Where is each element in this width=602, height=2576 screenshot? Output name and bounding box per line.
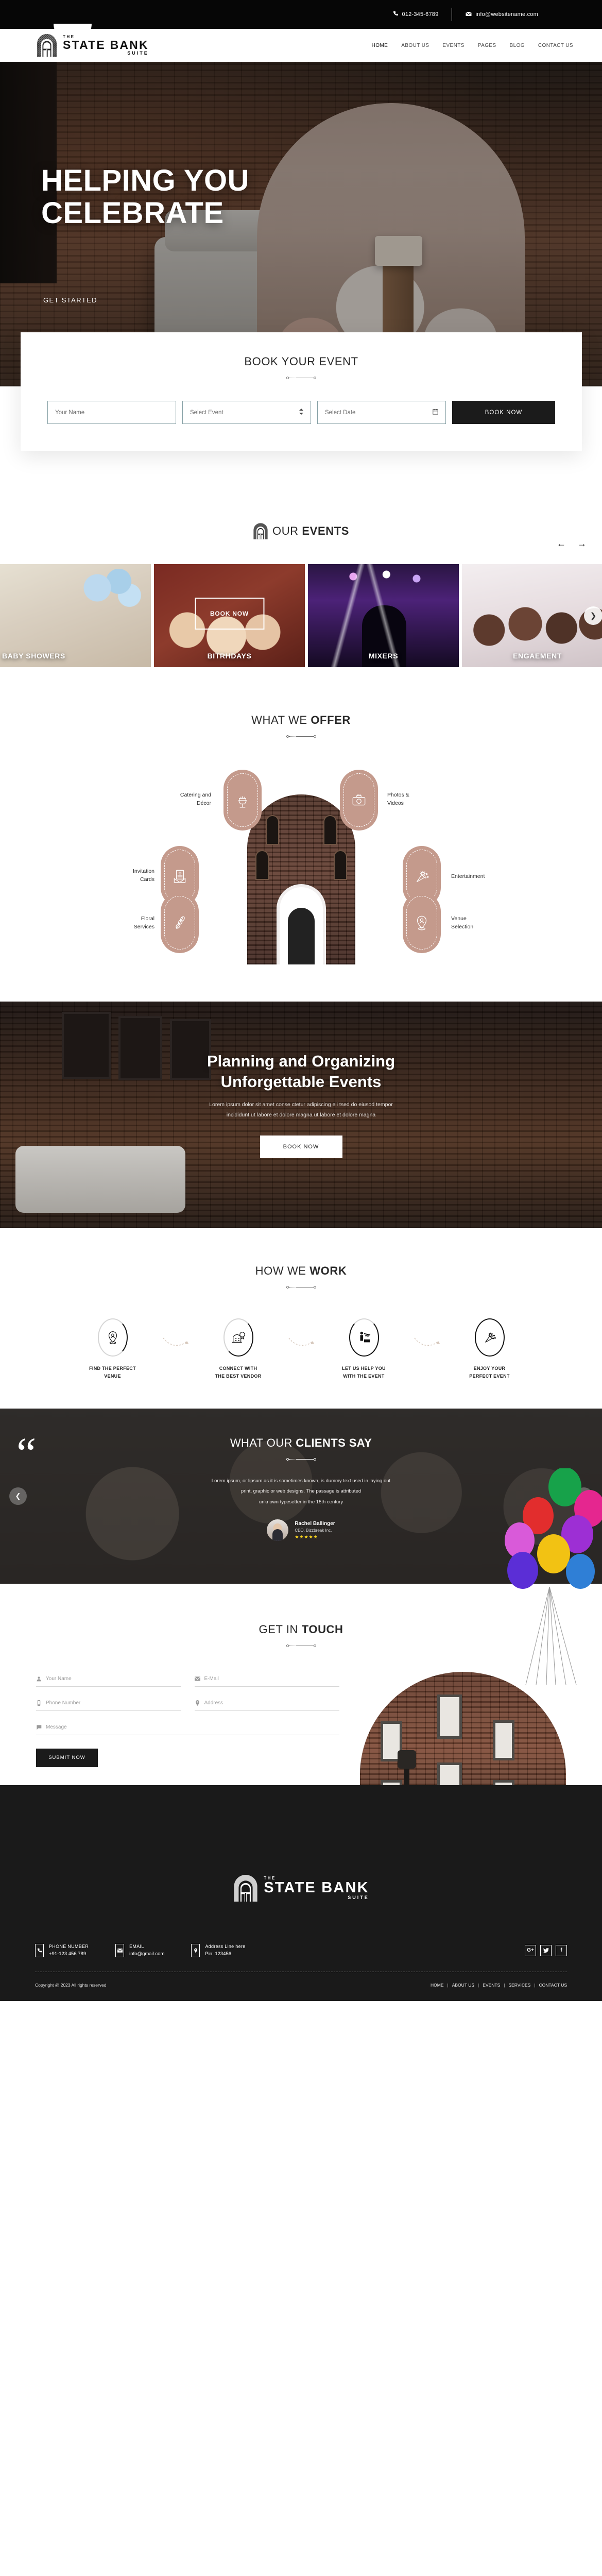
contact-message-field[interactable]: Message <box>36 1724 339 1735</box>
main-nav: HOME ABOUT US EVENTS PAGES BLOG CONTACT … <box>372 43 573 48</box>
work-step-4[interactable]: ENJOY YOUR PERFECT EVENT <box>451 1318 528 1381</box>
testimonial-quote-line2: print, graphic or web designs. The passa… <box>0 1486 602 1497</box>
nav-item-pages[interactable]: PAGES <box>478 43 496 48</box>
event-card-label: BABY SHOWERS <box>0 652 151 660</box>
step-arrow-icon <box>288 1336 314 1349</box>
testimonials-title-light: WHAT OUR <box>230 1436 296 1449</box>
footer-link-separator: | <box>534 1982 535 1988</box>
booking-title: BOOK YOUR EVENT <box>41 355 561 368</box>
work-step-2[interactable]: CONNECT WITH THE BEST VENDOR <box>200 1318 277 1381</box>
footer-copyright: Copyright @ 2023 All rights reserved <box>35 1982 107 1988</box>
what-we-offer-section: WHAT WE OFFER Catering and Décor <box>0 667 602 986</box>
map-pin-icon <box>195 1700 200 1706</box>
footer-links: HOME | ABOUT US | EVENTS | SERVICES | CO… <box>431 1982 567 1988</box>
planner-bunting-icon <box>356 1330 372 1345</box>
arrow-left-icon[interactable]: ← <box>557 538 566 549</box>
work-step-label: LET US HELP YOU WITH THE EVENT <box>325 1365 403 1381</box>
testimonials-section: “ ❮ ❯ WHAT OUR CLIENTS SAY Lorem ipsum, … <box>0 1409 602 1584</box>
topbar-divider <box>452 8 452 21</box>
contact-form: Your Name E-Mail Phone Number Address <box>36 1672 339 1767</box>
chevron-right-icon[interactable]: ❯ <box>584 606 602 625</box>
hero-headline-line1: HELPING YOU <box>41 165 602 197</box>
planning-headline-line1: Planning and Organizing <box>0 1051 602 1072</box>
testimonial-author: Rachel Ballinger CEO, Bizzbreak Inc. ★★★… <box>0 1519 602 1541</box>
floral-branch-icon <box>171 914 188 931</box>
testimonial-author-name: Rachel Ballinger <box>295 1521 335 1527</box>
contact-phone-placeholder: Phone Number <box>46 1700 80 1706</box>
topbar-email[interactable]: info@websitename.com <box>466 11 538 18</box>
name-input[interactable]: Your Name <box>47 401 176 424</box>
contact-address-field[interactable]: Address <box>195 1700 340 1711</box>
contact-name-field[interactable]: Your Name <box>36 1676 181 1687</box>
logo[interactable]: THE STATE BANK SUITE <box>36 34 149 57</box>
phone-icon <box>35 1944 44 1957</box>
footer-address-value: Pin: 123456 <box>205 1951 245 1957</box>
map-pin-icon <box>191 1944 200 1957</box>
contact-title-bold: TOUCH <box>302 1623 343 1636</box>
event-card-label: BITRHDAYS <box>154 652 305 660</box>
offer-title-light: WHAT WE <box>251 714 311 726</box>
offer-pill-floral[interactable] <box>161 892 199 953</box>
venue-door <box>280 887 323 964</box>
event-card-birthdays[interactable]: BOOK NOW BITRHDAYS <box>154 564 305 667</box>
planning-content: Planning and Organizing Unforgettable Ev… <box>0 1002 602 1158</box>
title-separator <box>0 1286 602 1289</box>
work-step-ring <box>223 1318 253 1357</box>
footer-social-links: G+ f <box>525 1945 567 1956</box>
offer-diagram: Catering and Décor Photos & Videos Invit… <box>0 770 602 965</box>
footer-link-separator: | <box>478 1982 479 1988</box>
topbar-phone-text: 012-345-6789 <box>402 11 439 18</box>
calendar-icon <box>433 409 438 416</box>
title-separator <box>41 377 561 379</box>
footer-bottom: Copyright @ 2023 All rights reserved HOM… <box>0 1972 602 2001</box>
site-footer: THE STATE BANK SUITE PHONE NUMBER +91-12… <box>0 1785 602 2001</box>
hero-content: HELPING YOU CELEBRATE GET STARTED <box>0 62 602 309</box>
bank-building-icon <box>233 1875 259 1902</box>
events-carousel-arrows: ← → <box>557 538 587 549</box>
offer-pill-catering[interactable] <box>223 770 262 831</box>
name-input-placeholder: Your Name <box>55 410 84 416</box>
work-step-1[interactable]: FIND THE PERFECT VENUE <box>74 1318 151 1381</box>
hero-headline-line2: CELEBRATE <box>41 197 602 230</box>
work-step-ring <box>349 1318 379 1357</box>
work-step-3[interactable]: LET US HELP YOU WITH THE EVENT <box>325 1318 403 1381</box>
footer-link-contact-us[interactable]: CONTACT US <box>539 1982 567 1988</box>
avatar <box>267 1519 288 1541</box>
testimonial-quote-line3: unknown typesetter in the 15th century <box>0 1497 602 1508</box>
site-header: THE STATE BANK SUITE HOME ABOUT US EVENT… <box>0 29 602 62</box>
step-arrow-icon <box>163 1336 188 1349</box>
testimonial-author-role: CEO, Bizzbreak Inc. <box>295 1528 335 1533</box>
contact-message-placeholder: Message <box>46 1724 67 1730</box>
footer-address[interactable]: Address Line here Pin: 123456 <box>191 1944 245 1957</box>
arrow-right-icon[interactable]: → <box>577 538 587 549</box>
title-separator <box>0 1645 602 1647</box>
work-title: HOW WE WORK <box>0 1264 602 1278</box>
testimonials-content: WHAT OUR CLIENTS SAY Lorem ipsum, or lip… <box>0 1409 602 1541</box>
footer-phone[interactable]: PHONE NUMBER +91-123 456 789 <box>35 1944 89 1957</box>
bank-building-icon <box>36 34 58 57</box>
event-select-value: Select Event <box>190 410 223 416</box>
get-started-button[interactable]: GET STARTED <box>41 291 99 309</box>
our-events-title-light: OUR <box>272 524 302 537</box>
work-step-label: ENJOY YOUR PERFECT EVENT <box>451 1365 528 1381</box>
footer-logo-name: STATE BANK <box>264 1880 369 1895</box>
work-step-ring <box>475 1318 505 1357</box>
book-now-button[interactable]: BOOK NOW <box>452 401 555 424</box>
work-step-ring <box>98 1318 128 1357</box>
updown-caret-icon <box>299 409 303 416</box>
footer-link-services[interactable]: SERVICES <box>508 1982 530 1988</box>
offer-label-invitation: Invitation Cards <box>72 868 154 884</box>
cake-table-icon <box>234 791 251 809</box>
contact-email-placeholder: E-Mail <box>204 1676 219 1682</box>
planning-banner-section: Planning and Organizing Unforgettable Ev… <box>0 1002 602 1228</box>
offer-label-floral: Floral Services <box>72 915 154 931</box>
contact-title-light: GET IN <box>259 1623 301 1636</box>
date-input-placeholder: Select Date <box>325 410 355 416</box>
offer-label-venue: Venue Selection <box>451 915 549 931</box>
camera-icon <box>350 791 368 809</box>
event-card-engagement[interactable]: ENGAEMENT ❯ <box>462 564 602 667</box>
booking-form: Your Name Select Event Select Date BOOK … <box>41 401 561 424</box>
rating-stars: ★★★★★ <box>295 1534 335 1540</box>
phone-icon <box>36 1700 42 1706</box>
page-root: 012-345-6789 info@websitename.com <box>0 0 602 2001</box>
event-card-mixers[interactable]: MIXERS <box>308 564 459 667</box>
google-plus-icon[interactable]: G+ <box>525 1945 536 1956</box>
our-events-section: OUR EVENTS ← → BABY SHOWERS BOOK NOW BIT… <box>0 451 602 667</box>
contact-address-placeholder: Address <box>204 1700 223 1706</box>
work-title-bold: WORK <box>309 1264 347 1277</box>
offer-label-catering: Catering and Décor <box>124 791 211 808</box>
map-pin-person-icon <box>105 1330 121 1345</box>
nav-item-contact-us[interactable]: CONTACT US <box>538 43 573 48</box>
footer-phone-label: PHONE NUMBER <box>49 1944 89 1949</box>
booking-section: BOOK YOUR EVENT Your Name Select Event S… <box>0 332 602 451</box>
title-separator <box>0 1458 602 1461</box>
event-select[interactable]: Select Event <box>182 401 311 424</box>
map-pin-person-icon <box>413 914 431 931</box>
footer-link-home[interactable]: HOME <box>431 1982 444 1988</box>
how-we-work-section: HOW WE WORK FIND THE PERFECT VENUE <box>0 1228 602 1409</box>
nav-item-events[interactable]: EVENTS <box>442 43 464 48</box>
facebook-icon[interactable]: f <box>556 1945 567 1956</box>
date-input[interactable]: Select Date <box>317 401 446 424</box>
offer-pill-photos[interactable] <box>340 770 378 831</box>
footer-email[interactable]: EMAIL info@gmail.com <box>115 1944 164 1957</box>
footer-email-value: info@gmail.com <box>129 1951 164 1957</box>
offer-label-entertainment: Entertainment <box>451 873 549 881</box>
testimonial-quote: Lorem ipsum, or lipsum as it is sometime… <box>0 1476 602 1509</box>
footer-logo-suite: SUITE <box>264 1895 369 1900</box>
user-icon <box>36 1676 42 1682</box>
phone-icon <box>393 11 399 18</box>
our-events-header: OUR EVENTS <box>0 523 602 539</box>
footer-address-label: Address Line here <box>205 1944 245 1949</box>
footer-link-about-us[interactable]: ABOUT US <box>452 1982 474 1988</box>
testimonials-title: WHAT OUR CLIENTS SAY <box>0 1436 602 1450</box>
testimonials-title-bold: CLIENTS SAY <box>296 1436 372 1449</box>
testimonial-quote-line1: Lorem ipsum, or lipsum as it is sometime… <box>0 1476 602 1487</box>
logo-text: THE STATE BANK SUITE <box>63 35 149 56</box>
footer-link-separator: | <box>448 1982 449 1988</box>
title-separator <box>0 735 602 738</box>
step-arrow-icon <box>414 1336 440 1349</box>
footer-phone-value: +91-123 456 789 <box>49 1951 89 1957</box>
envelope-icon <box>115 1944 124 1957</box>
work-step-label: CONNECT WITH THE BEST VENDOR <box>200 1365 277 1381</box>
logo-suite: SUITE <box>63 51 149 56</box>
envelope-icon <box>195 1676 200 1682</box>
event-card-baby-showers[interactable]: BABY SHOWERS <box>0 564 151 667</box>
footer-logo[interactable]: THE STATE BANK SUITE <box>0 1817 602 1902</box>
offer-label-photos: Photos & Videos <box>387 791 475 808</box>
submit-now-button[interactable]: SUBMIT NOW <box>36 1749 98 1767</box>
contact-phone-field[interactable]: Phone Number <box>36 1700 181 1711</box>
nav-item-home[interactable]: HOME <box>372 43 388 48</box>
booking-card: BOOK YOUR EVENT Your Name Select Event S… <box>21 332 582 451</box>
bank-building-icon <box>253 523 268 539</box>
contact-title: GET IN TOUCH <box>0 1623 602 1636</box>
footer-email-label: EMAIL <box>129 1944 164 1949</box>
offer-pill-venue[interactable] <box>403 892 441 953</box>
nav-item-blog[interactable]: BLOG <box>510 43 525 48</box>
venue-building-photo <box>247 794 355 964</box>
planning-paragraph-line2: incididunt ut labore et dolore magna ut … <box>0 1110 602 1121</box>
topbar-phone[interactable]: 012-345-6789 <box>393 11 439 18</box>
planning-book-now-button[interactable]: BOOK NOW <box>260 1136 342 1158</box>
our-events-title-bold: EVENTS <box>302 524 349 537</box>
work-step-label: FIND THE PERFECT VENUE <box>74 1365 151 1381</box>
contact-name-placeholder: Your Name <box>46 1676 72 1682</box>
party-popper-icon <box>413 868 431 885</box>
work-title-light: HOW WE <box>255 1264 310 1277</box>
venue-badge-icon <box>231 1330 246 1345</box>
work-steps: FIND THE PERFECT VENUE CONNECT WITH THE … <box>0 1318 602 1381</box>
event-card-label: MIXERS <box>308 652 459 660</box>
planning-headline-line2: Unforgettable Events <box>0 1072 602 1092</box>
topbar-email-text: info@websitename.com <box>475 11 538 18</box>
offer-title-bold: OFFER <box>311 714 351 726</box>
footer-contact-row: PHONE NUMBER +91-123 456 789 EMAIL info@… <box>0 1902 602 1957</box>
invitation-card-icon <box>171 868 188 885</box>
party-popper-icon <box>482 1330 497 1345</box>
offer-title: WHAT WE OFFER <box>0 714 602 727</box>
footer-link-events[interactable]: EVENTS <box>483 1982 500 1988</box>
footer-link-separator: | <box>504 1982 505 1988</box>
planning-paragraph-line1: Lorem ipsum dolor sit amet conse ctetur … <box>0 1100 602 1110</box>
envelope-icon <box>466 11 472 18</box>
logo-name: STATE BANK <box>63 39 149 51</box>
nav-item-about-us[interactable]: ABOUT US <box>401 43 429 48</box>
chat-icon <box>36 1724 42 1730</box>
event-card-book-now-button[interactable]: BOOK NOW <box>195 598 264 630</box>
twitter-icon[interactable] <box>540 1945 552 1956</box>
event-card-label: ENGAEMENT <box>462 652 602 660</box>
events-carousel: BABY SHOWERS BOOK NOW BITRHDAYS MIXERS E… <box>0 564 602 667</box>
contact-email-field[interactable]: E-Mail <box>195 1676 340 1687</box>
